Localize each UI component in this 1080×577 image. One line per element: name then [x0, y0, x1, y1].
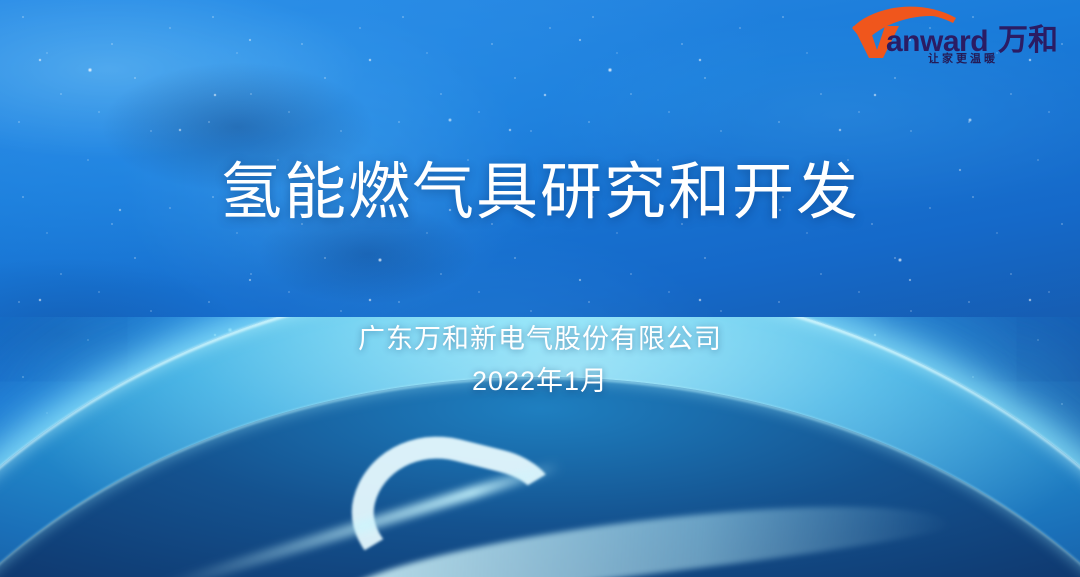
title-slide: anward 万和 让家更温暖 氢能燃气具研究和开发 广东万和新电气股份有限公司…	[0, 0, 1080, 577]
slide-subtitle-block: 广东万和新电气股份有限公司 2022年1月	[0, 322, 1080, 399]
slide-date: 2022年1月	[0, 364, 1080, 400]
logo-chinese-name: 万和	[998, 24, 1058, 57]
slide-title: 氢能燃气具研究和开发	[0, 158, 1080, 227]
vanward-logo: anward 万和 让家更温暖	[850, 6, 1066, 66]
logo-tagline: 让家更温暖	[928, 51, 998, 65]
organization-name: 广东万和新电气股份有限公司	[0, 322, 1080, 358]
